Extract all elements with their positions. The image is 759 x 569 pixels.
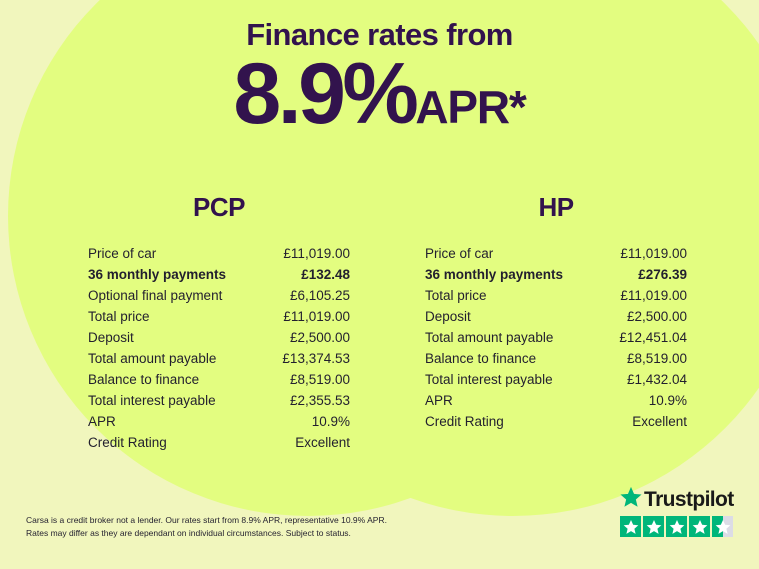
table-row: Total interest payable£1,432.04 xyxy=(425,369,687,390)
row-label: Credit Rating xyxy=(88,432,167,453)
row-label: Optional final payment xyxy=(88,285,222,306)
row-value: £11,019.00 xyxy=(283,306,350,327)
row-label: Deposit xyxy=(88,327,134,348)
row-value: £6,105.25 xyxy=(290,285,350,306)
trustpilot-brand: Trustpilot xyxy=(620,487,740,511)
table-row: Optional final payment£6,105.25 xyxy=(88,285,350,306)
finance-table-pcp: PCP Price of car£11,019.0036 monthly pay… xyxy=(88,192,350,453)
row-value: Excellent xyxy=(295,432,350,453)
row-label: 36 monthly payments xyxy=(88,264,226,285)
row-label: Total price xyxy=(425,285,487,306)
trustpilot-wordmark: Trustpilot xyxy=(644,489,734,510)
row-value: £276.39 xyxy=(638,264,687,285)
row-label: Price of car xyxy=(425,243,493,264)
trustpilot-star-full xyxy=(689,516,710,537)
row-value: Excellent xyxy=(632,411,687,432)
trustpilot-star-half xyxy=(712,516,733,537)
trustpilot-star-full xyxy=(620,516,641,537)
table-row: Total price£11,019.00 xyxy=(88,306,350,327)
row-value: £11,019.00 xyxy=(283,243,350,264)
row-value: £2,500.00 xyxy=(627,306,687,327)
disclaimer: Carsa is a credit broker not a lender. O… xyxy=(26,514,446,540)
row-label: Total interest payable xyxy=(88,390,216,411)
headline-rate-value: 8.9% xyxy=(233,46,415,142)
row-value: £12,451.04 xyxy=(619,327,687,348)
table-row: Price of car£11,019.00 xyxy=(88,243,350,264)
table-row: Price of car£11,019.00 xyxy=(425,243,687,264)
row-label: Total amount payable xyxy=(425,327,553,348)
disclaimer-line-1: Carsa is a credit broker not a lender. O… xyxy=(26,514,446,527)
finance-rates-poster: Finance rates from 8.9%APR* PCP Price of… xyxy=(0,0,759,569)
finance-table-hp: HP Price of car£11,019.0036 monthly paym… xyxy=(425,192,687,432)
table-row: Deposit£2,500.00 xyxy=(425,306,687,327)
row-label: Deposit xyxy=(425,306,471,327)
row-value: £2,355.53 xyxy=(290,390,350,411)
table-row: Total price£11,019.00 xyxy=(425,285,687,306)
row-value: £11,019.00 xyxy=(620,243,687,264)
trustpilot-star-full xyxy=(643,516,664,537)
row-value: £2,500.00 xyxy=(290,327,350,348)
table-row: Total interest payable£2,355.53 xyxy=(88,390,350,411)
row-label: Credit Rating xyxy=(425,411,504,432)
row-label: Price of car xyxy=(88,243,156,264)
table-row: Credit RatingExcellent xyxy=(88,432,350,453)
table-title-pcp: PCP xyxy=(88,192,350,223)
disclaimer-line-2: Rates may differ as they are dependant o… xyxy=(26,527,446,540)
headline-main: 8.9%APR* xyxy=(0,54,759,136)
table-row: 36 monthly payments£276.39 xyxy=(425,264,687,285)
table-row: APR10.9% xyxy=(88,411,350,432)
table-row: Total amount payable£12,451.04 xyxy=(425,327,687,348)
row-label: 36 monthly payments xyxy=(425,264,563,285)
table-row: Balance to finance£8,519.00 xyxy=(425,348,687,369)
table-title-hp: HP xyxy=(425,192,687,223)
row-value: £8,519.00 xyxy=(627,348,687,369)
row-label: Total interest payable xyxy=(425,369,553,390)
row-value: £13,374.53 xyxy=(282,348,350,369)
row-label: Balance to finance xyxy=(88,369,199,390)
trustpilot-star-rating xyxy=(620,516,740,537)
table-row: Deposit£2,500.00 xyxy=(88,327,350,348)
trustpilot-star-full xyxy=(666,516,687,537)
table-row: APR10.9% xyxy=(425,390,687,411)
row-value: £1,432.04 xyxy=(627,369,687,390)
table-row: Total amount payable£13,374.53 xyxy=(88,348,350,369)
table-row: 36 monthly payments£132.48 xyxy=(88,264,350,285)
headline-apr-label: APR* xyxy=(415,81,525,133)
trustpilot-widget[interactable]: Trustpilot xyxy=(620,487,740,537)
row-label: Total price xyxy=(88,306,150,327)
trustpilot-star-icon xyxy=(620,486,642,513)
row-label: Total amount payable xyxy=(88,348,216,369)
row-value: 10.9% xyxy=(312,411,350,432)
row-value: 10.9% xyxy=(649,390,687,411)
table-row: Credit RatingExcellent xyxy=(425,411,687,432)
row-label: Balance to finance xyxy=(425,348,536,369)
headline-block: Finance rates from 8.9%APR* xyxy=(0,18,759,136)
table-rows-hp: Price of car£11,019.0036 monthly payment… xyxy=(425,243,687,432)
table-row: Balance to finance£8,519.00 xyxy=(88,369,350,390)
table-rows-pcp: Price of car£11,019.0036 monthly payment… xyxy=(88,243,350,453)
row-value: £11,019.00 xyxy=(620,285,687,306)
row-value: £8,519.00 xyxy=(290,369,350,390)
row-value: £132.48 xyxy=(301,264,350,285)
row-label: APR xyxy=(88,411,116,432)
row-label: APR xyxy=(425,390,453,411)
